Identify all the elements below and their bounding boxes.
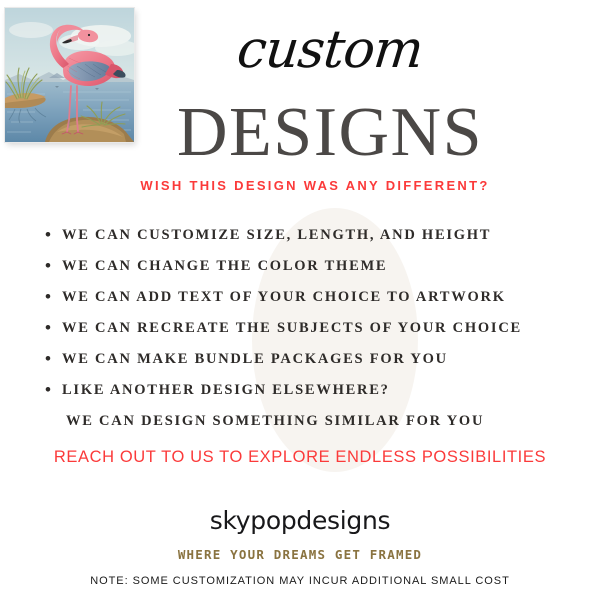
subheadline: WISH THIS DESIGN WAS ANY DIFFERENT? [0,178,600,193]
brand-logo-text: skypopdesigns [0,506,600,535]
custom-designs-infographic: custom DESIGNS WISH THIS DESIGN WAS ANY … [0,0,600,600]
flamingo-artwork-thumbnail[interactable] [5,8,134,142]
list-item: WE CAN MAKE BUNDLE PACKAGES FOR YOU [44,344,590,375]
list-item: WE CAN CUSTOMIZE SIZE, LENGTH, AND HEIGH… [44,220,590,251]
list-item: WE CAN RECREATE THE SUBJECTS OF YOUR CHO… [44,313,590,344]
call-to-action-text: REACH OUT TO US TO EXPLORE ENDLESS POSSI… [0,448,600,467]
footnote: NOTE: SOME CUSTOMIZATION MAY INCUR ADDIT… [0,575,600,587]
list-item: LIKE ANOTHER DESIGN ELSEWHERE? [44,375,590,406]
list-item-continuation: WE CAN DESIGN SOMETHING SIMILAR FOR YOU [44,406,590,437]
flamingo-illustration [5,8,134,142]
feature-list: WE CAN CUSTOMIZE SIZE, LENGTH, AND HEIGH… [44,220,590,437]
list-item: WE CAN CHANGE THE COLOR THEME [44,251,590,282]
list-item: WE CAN ADD TEXT OF YOUR CHOICE TO ARTWOR… [44,282,590,313]
brand-tagline: WHERE YOUR DREAMS GET FRAMED [0,547,600,562]
script-headline: custom [147,22,513,78]
page-title: DESIGNS [140,96,520,170]
